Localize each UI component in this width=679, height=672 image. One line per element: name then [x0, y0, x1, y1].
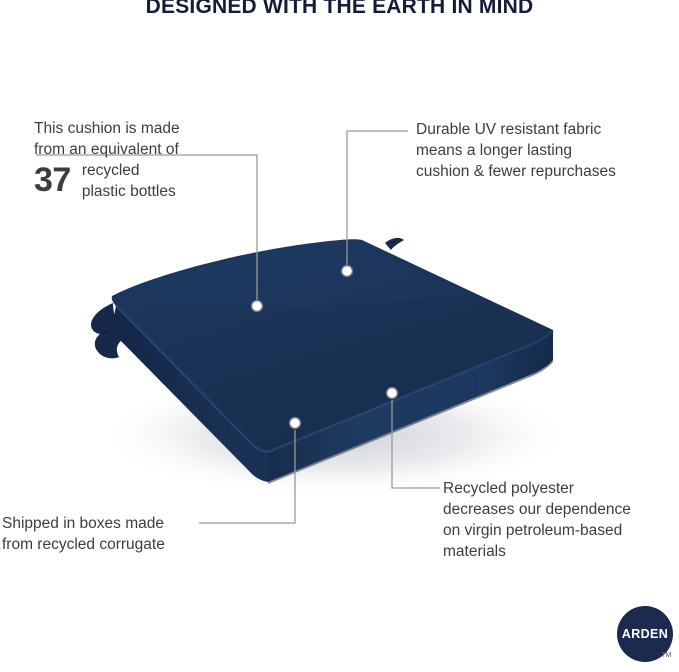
bottle-count-label: recycled plastic bottles [82, 160, 176, 202]
product-image [0, 0, 679, 672]
callout-recycled-bottles-intro: This cushion is made from an equivalent … [34, 118, 180, 160]
callout-line: This cushion is made [34, 118, 180, 139]
callout-line: decreases our dependence [443, 499, 631, 520]
callout-line: from an equivalent of [34, 139, 180, 160]
bottle-count-number: 37 [34, 163, 71, 197]
callout-uv-fabric: Durable UV resistant fabric means a long… [416, 119, 616, 182]
cushion-tie-back [385, 238, 404, 250]
recycled-bottles-stat: 37 recycled plastic bottles [34, 160, 176, 202]
callout-line: means a longer lasting [416, 140, 616, 161]
product-infographic: DESIGNED WITH THE EARTH IN MIND [0, 0, 679, 672]
callout-line: recycled [82, 160, 176, 181]
callout-line: plastic bottles [82, 181, 176, 202]
trademark-symbol: TM [661, 652, 672, 659]
callout-recycled-polyester: Recycled polyester decreases our depende… [443, 478, 631, 562]
cushion-illustration [0, 0, 679, 672]
callout-line: from recycled corrugate [2, 534, 165, 555]
callout-line: Recycled polyester [443, 478, 631, 499]
callout-line: Durable UV resistant fabric [416, 119, 616, 140]
brand-logo-text: ARDEN [622, 627, 668, 641]
callout-line: cushion & fewer repurchases [416, 161, 616, 182]
callout-line: Shipped in boxes made [2, 513, 165, 534]
callout-line: materials [443, 541, 631, 562]
callout-shipping-boxes: Shipped in boxes made from recycled corr… [2, 513, 165, 555]
callout-line: on virgin petroleum-based [443, 520, 631, 541]
